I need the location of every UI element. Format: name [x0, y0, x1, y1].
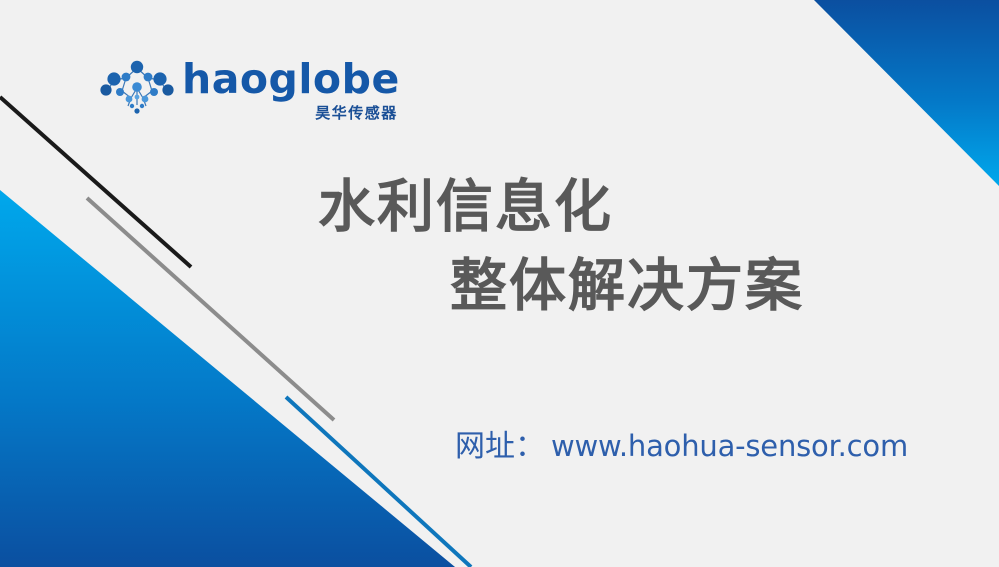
presentation-title-slide: haoglobe 昊华传感器 水利信息化 整体解决方案 网址： www.haoh…	[0, 0, 999, 567]
logo-text-group: haoglobe 昊华传感器	[182, 58, 400, 123]
logo-wordmark: haoglobe	[182, 60, 400, 99]
company-logo: haoglobe 昊华传感器	[98, 58, 400, 123]
website-url-label: 网址：	[455, 421, 545, 465]
title-line-2: 整体解决方案	[318, 247, 938, 326]
page-title: 水利信息化 整体解决方案	[318, 168, 938, 325]
top-right-blue-triangle-shape	[814, 0, 999, 186]
website-url-value: www.haohua-sensor.com	[551, 429, 908, 463]
title-line-1: 水利信息化	[318, 168, 938, 247]
network-dots-logo-icon	[98, 58, 176, 116]
logo-subtitle: 昊华传感器	[315, 102, 398, 123]
website-url: 网址： www.haohua-sensor.com	[455, 421, 908, 465]
